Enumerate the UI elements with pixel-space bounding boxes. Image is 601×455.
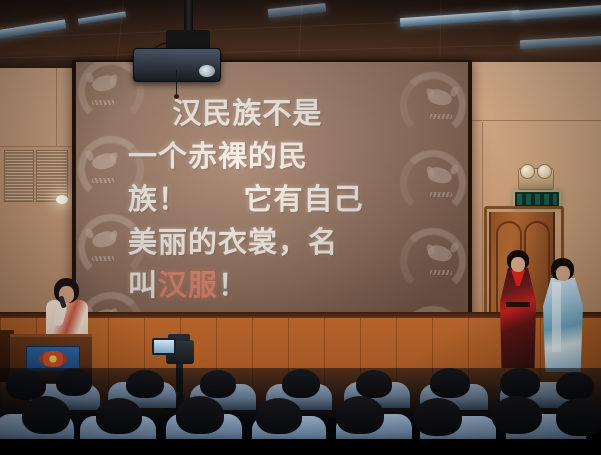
performer-robe — [543, 278, 583, 372]
audience-head — [556, 398, 601, 436]
audience-head — [282, 369, 320, 398]
camera-lcd-screen — [152, 338, 176, 355]
audience-head — [336, 396, 384, 434]
slide-text: 汉民族不是 一个赤裸的民 族！ 它有自己 美丽的衣裳，名 叫汉服！ — [128, 92, 418, 307]
audience-head — [200, 370, 236, 398]
performer-belt — [506, 302, 530, 307]
audience-head — [500, 368, 540, 398]
audience-head — [492, 396, 542, 434]
performer-sash — [552, 282, 561, 352]
cable-knob — [174, 94, 179, 99]
audience-head — [96, 398, 142, 434]
foreground-shadow — [0, 439, 601, 455]
school-emblem — [39, 351, 67, 367]
emergency-light — [518, 168, 554, 190]
photo-scene: 汉民族不是 一个赤裸的民 族！ 它有自己 美丽的衣裳，名 叫汉服！ — [0, 0, 601, 455]
seated-student-audience — [0, 368, 601, 455]
exit-sign-glyphs — [517, 194, 557, 205]
emergency-lamp — [537, 164, 552, 179]
slide-ornament-right — [412, 62, 468, 348]
performer-face — [556, 266, 570, 281]
ceiling-projector — [133, 48, 221, 82]
projector-pole — [184, 0, 193, 34]
ceiling-seam — [117, 0, 124, 60]
ceiling-light-strip — [78, 11, 126, 24]
projector-hanging-cable — [176, 70, 177, 96]
emergency-lamp — [520, 164, 535, 179]
slide-text-highlight: 汉服 — [158, 268, 218, 302]
ceiling-light-strip — [268, 3, 327, 18]
performer-face — [511, 257, 525, 272]
ceiling-light-strip — [512, 5, 601, 21]
audience-head — [430, 368, 470, 398]
projector-lens — [199, 65, 215, 77]
audience-head — [56, 368, 92, 396]
audience-head — [22, 396, 70, 434]
wall-vent — [4, 150, 34, 202]
wall-spot-light — [56, 195, 68, 204]
slide-text-after: ！ — [218, 268, 248, 302]
wall-panel-line — [56, 68, 57, 146]
audience-head — [126, 370, 164, 398]
hanfu-performer-dark-red — [500, 250, 536, 368]
ceiling-light-strip — [400, 10, 520, 27]
ceiling-seam — [439, 0, 441, 58]
ceiling-light-strip — [520, 36, 601, 49]
projection-screen: 汉民族不是 一个赤裸的民 族！ 它有自己 美丽的衣裳，名 叫汉服！ — [76, 62, 468, 348]
audience-head — [176, 396, 224, 434]
audience-head — [256, 398, 302, 434]
ceiling-seam — [0, 43, 601, 59]
hanfu-performer-light-blue — [543, 258, 583, 370]
wall-trim — [466, 120, 601, 121]
audience-head — [356, 370, 392, 398]
audience-head — [556, 372, 594, 400]
audience-head — [414, 398, 462, 436]
